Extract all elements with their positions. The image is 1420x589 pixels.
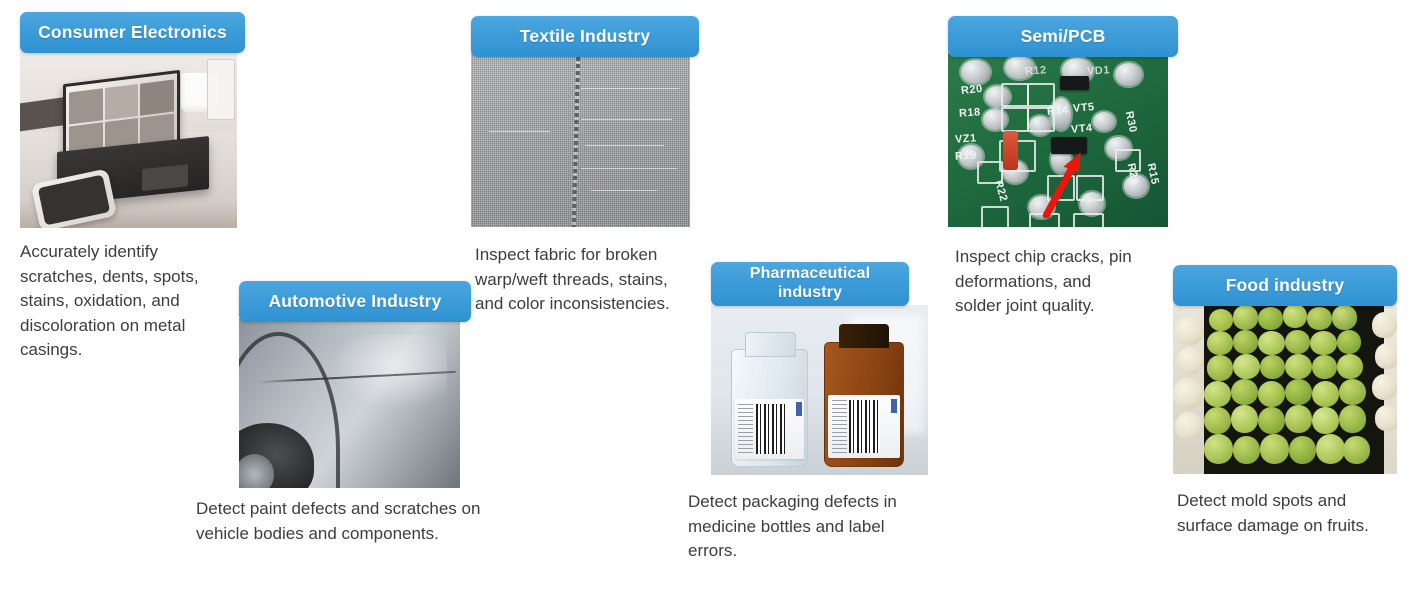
pcb-label-r18: R18 — [959, 106, 981, 119]
badge-label: Food industry — [1226, 275, 1345, 296]
badge-label: Consumer Electronics — [38, 22, 227, 43]
semi-pcb-image: R20 R18 VZ1 R19 R22 R12 VD1 R14 VT5 VT4 … — [948, 53, 1168, 227]
badge-food-industry[interactable]: Food industry — [1173, 265, 1397, 306]
badge-label: Textile Industry — [520, 26, 650, 47]
pcb-label-vt4: VT4 — [1071, 122, 1094, 136]
pcb-label-r20: R20 — [961, 83, 984, 97]
consumer-electronics-image — [20, 50, 237, 228]
amber-vial — [824, 342, 904, 466]
pcb-label-vz1: VZ1 — [954, 132, 976, 145]
caption-consumer-electronics: Accurately identify scratches, dents, sp… — [20, 240, 235, 363]
pcb-label-r14: R14 — [1047, 104, 1070, 118]
pcb-label-vt5: VT5 — [1073, 101, 1096, 115]
caption-semi-pcb: Inspect chip cracks, pin deformations, a… — [955, 245, 1170, 319]
food-industry-image — [1173, 302, 1397, 474]
pcb-label-r12: R12 — [1025, 64, 1047, 77]
pcb-label-r22: R22 — [992, 179, 1010, 203]
badge-semi-pcb[interactable]: Semi/PCB — [948, 16, 1178, 57]
badge-pharmaceutical-industry[interactable]: Pharmaceutical industry — [711, 262, 909, 306]
badge-automotive-industry[interactable]: Automotive Industry — [239, 281, 471, 322]
caption-automotive-industry: Detect paint defects and scratches on ve… — [196, 497, 556, 546]
pcb-label-vd1: VD1 — [1086, 64, 1110, 78]
badge-textile-industry[interactable]: Textile Industry — [471, 16, 699, 57]
badge-consumer-electronics[interactable]: Consumer Electronics — [20, 12, 245, 53]
caption-food-industry: Detect mold spots and surface damage on … — [1177, 489, 1417, 538]
pcb-label-r30: R30 — [1122, 110, 1138, 134]
textile-industry-image — [471, 53, 690, 227]
badge-label: Pharmaceutical industry — [750, 265, 870, 303]
caption-pharmaceutical-industry: Detect packaging defects in medicine bot… — [688, 490, 948, 564]
badge-label: Semi/PCB — [1021, 26, 1106, 47]
red-arrow-icon — [1036, 140, 1091, 218]
caption-textile-industry: Inspect fabric for broken warp/weft thre… — [475, 243, 715, 317]
badge-label: Automotive Industry — [269, 291, 442, 312]
pharmaceutical-industry-image — [711, 305, 928, 475]
clear-vial — [731, 349, 809, 467]
pcb-label-r19: R19 — [954, 150, 976, 163]
automotive-industry-image — [239, 318, 460, 488]
